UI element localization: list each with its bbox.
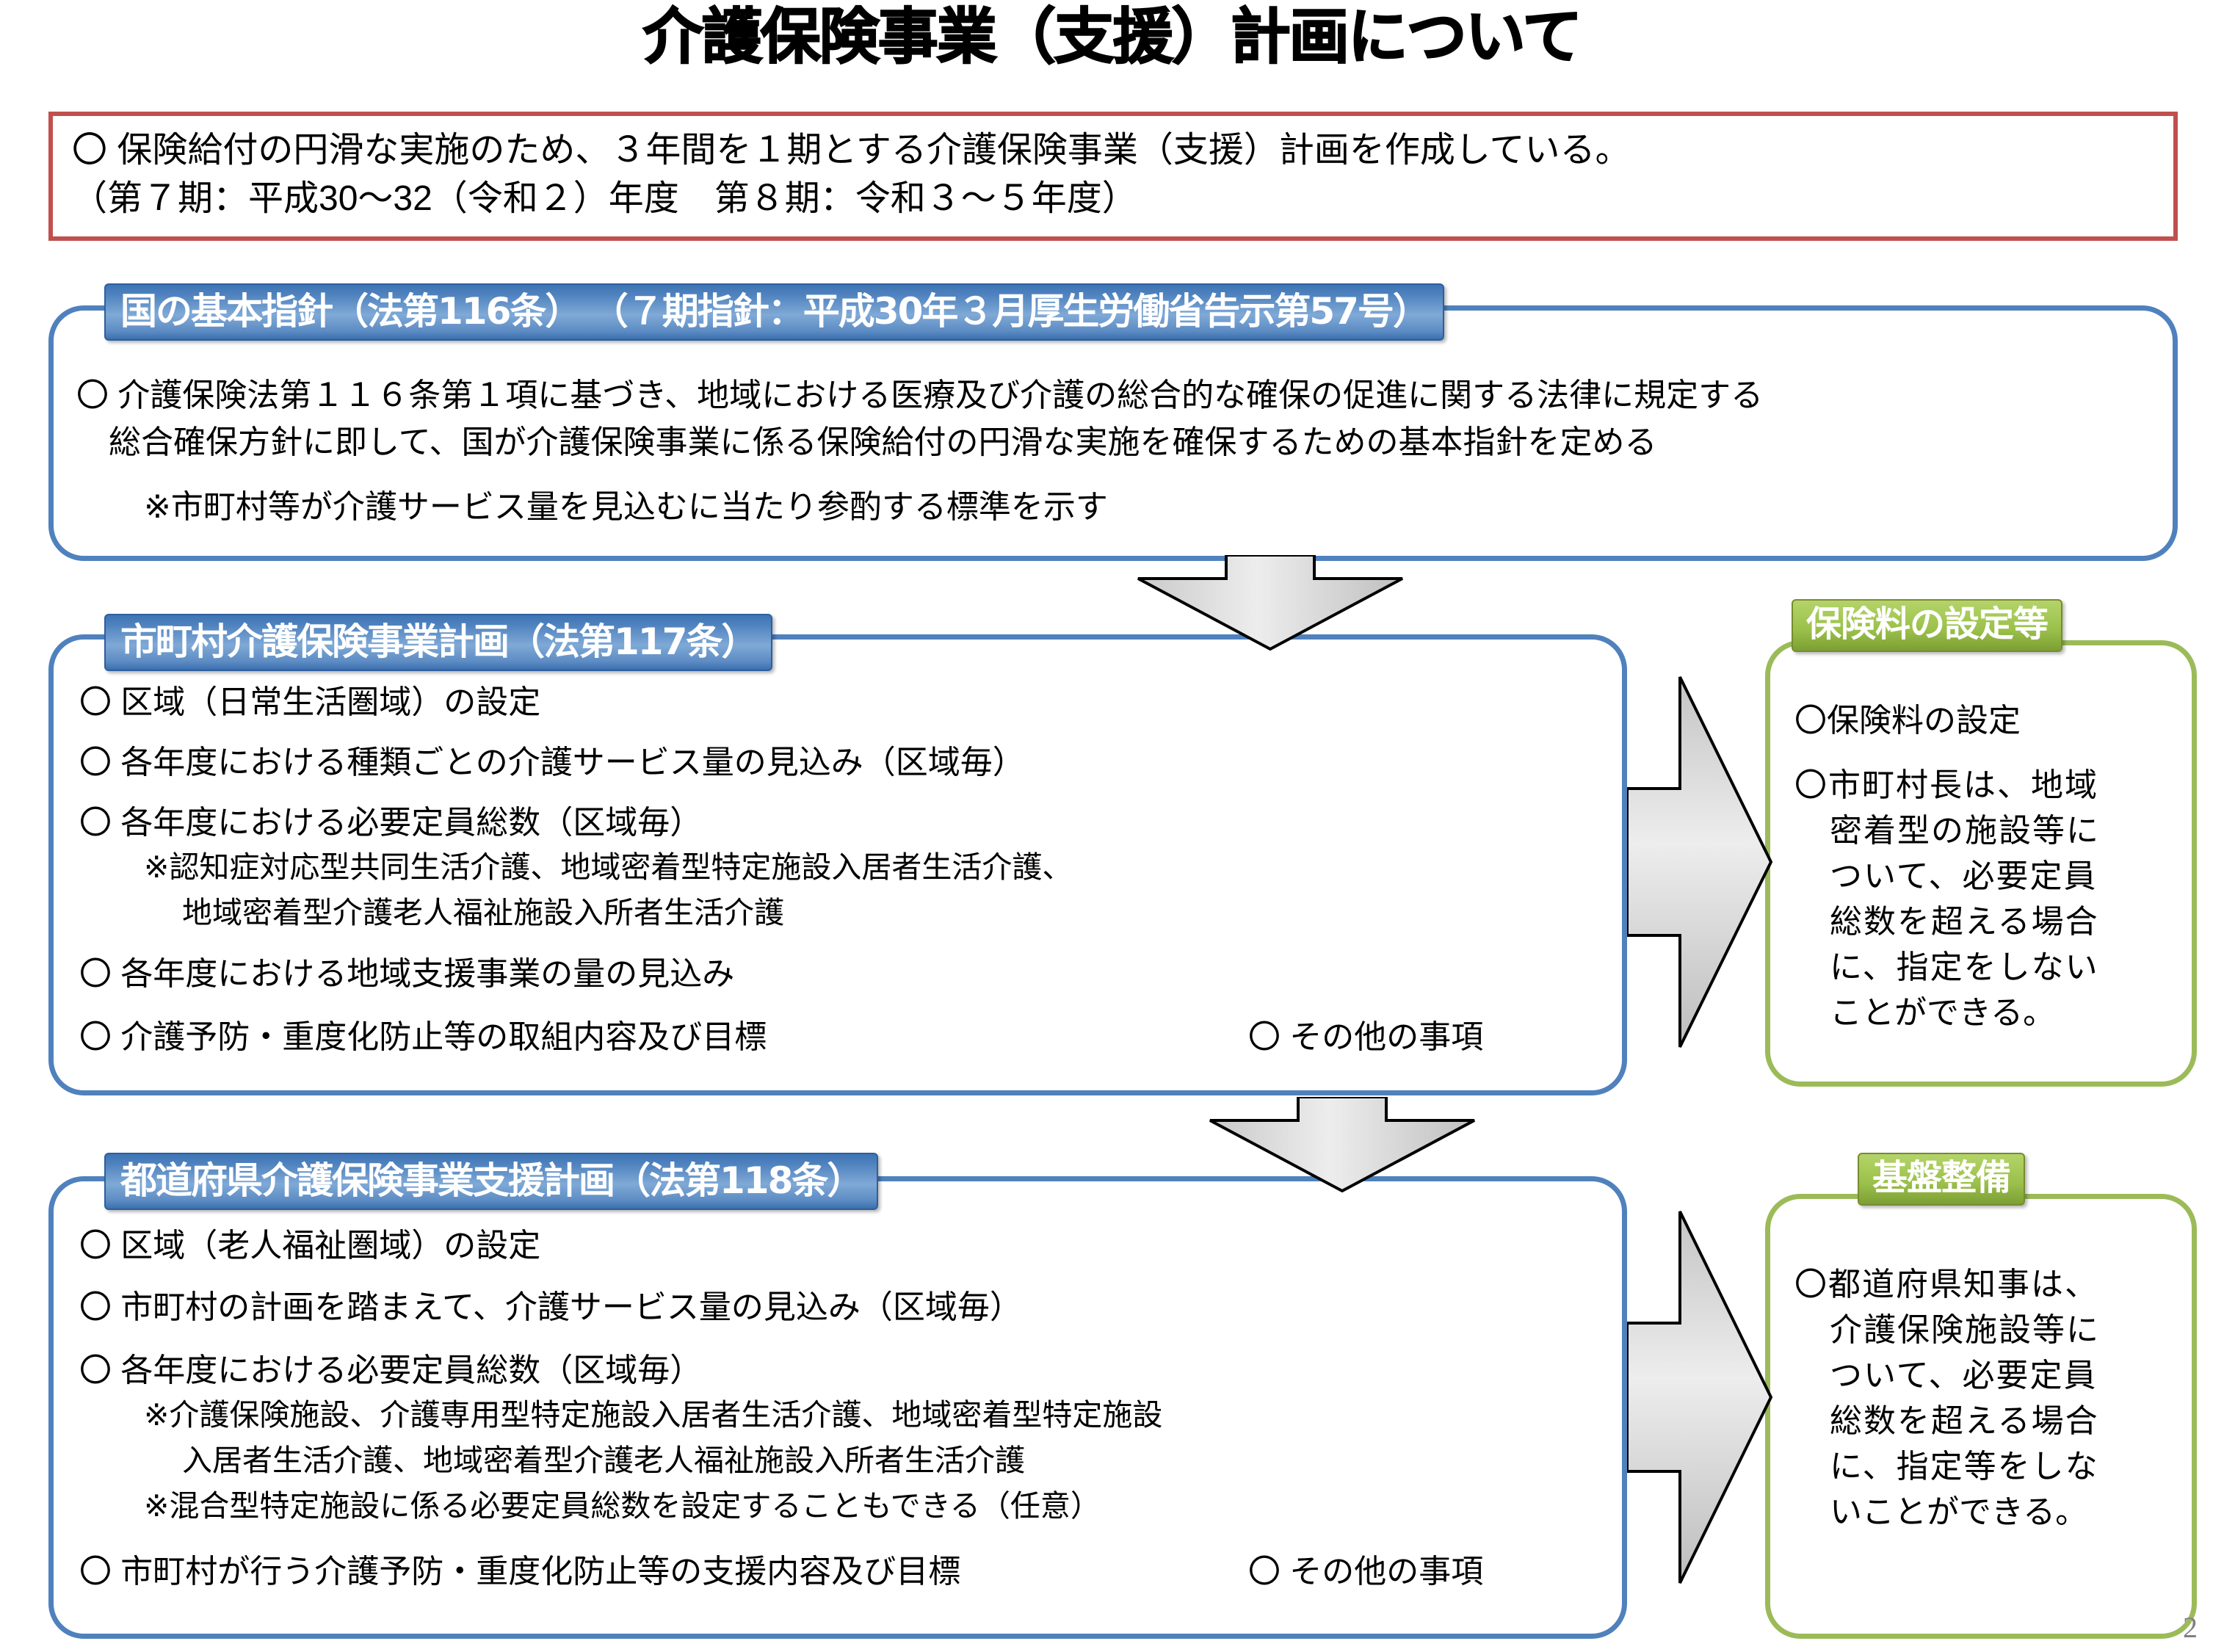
prefectural-note-2: 入居者生活介護、地域密着型介護老人福祉施設入所者生活介護 bbox=[182, 1439, 1025, 1482]
premium-line-4: ついて、必要定員 bbox=[1830, 853, 2097, 900]
infrastructure-line-6: いことができる。 bbox=[1830, 1489, 2087, 1536]
premium-line-5: 総数を超える場合 bbox=[1830, 899, 2099, 946]
municipal-bullet-5: 〇 介護予防・重度化防止等の取組内容及び目標 bbox=[79, 1015, 767, 1060]
page-title: 介護保険事業（支援）計画について bbox=[0, 6, 2224, 69]
national-policy-line-1: 〇 介護保険法第１１６条第１項に基づき、地域における医療及び介護の総合的な確保の… bbox=[76, 373, 1763, 419]
prefectural-note-1: ※介護保険施設、介護専用型特定施設入居者生活介護、地域密着型特定施設 bbox=[144, 1394, 1162, 1436]
municipal-bullet-6: 〇 その他の事項 bbox=[1248, 1015, 1483, 1060]
municipal-bullet-1: 〇 区域（日常生活圏域）の設定 bbox=[79, 680, 540, 725]
municipal-plan-banner: 市町村介護保険事業計画（法第117条） bbox=[104, 614, 772, 671]
arrow-down-national-to-municipal bbox=[1087, 555, 1454, 651]
arrow-down-municipal-to-prefectural bbox=[1159, 1097, 1526, 1192]
prefectural-plan-banner: 都道府県介護保険事業支援計画（法第118条） bbox=[104, 1153, 878, 1210]
prefectural-bullet-5: 〇 その他の事項 bbox=[1248, 1549, 1483, 1595]
prefectural-bullet-1: 〇 区域（老人福祉圏域）の設定 bbox=[79, 1223, 540, 1269]
premium-line-2: 〇市町村長は、地域 bbox=[1794, 762, 2098, 809]
infrastructure-banner: 基盤整備 bbox=[1858, 1153, 2025, 1206]
infrastructure-line-4: 総数を超える場合 bbox=[1830, 1398, 2099, 1445]
infrastructure-line-3: ついて、必要定員 bbox=[1830, 1352, 2097, 1399]
summary-line-1: 〇 保険給付の円滑な実施のため、３年間を１期とする介護保険事業（支援）計画を作成… bbox=[72, 126, 2154, 175]
premium-line-3: 密着型の施設等に bbox=[1830, 808, 2100, 855]
premium-line-1: 〇保険料の設定 bbox=[1794, 698, 2021, 745]
national-policy-banner: 国の基本指針（法第116条） （７期指針：平成30年３月厚生労働省告示第57号） bbox=[104, 283, 1444, 341]
infrastructure-line-5: に、指定等をしな bbox=[1830, 1443, 2099, 1490]
arrow-right-municipal-to-premium bbox=[1627, 649, 1774, 1075]
summary-box: 〇 保険給付の円滑な実施のため、３年間を１期とする介護保険事業（支援）計画を作成… bbox=[48, 112, 2178, 241]
arrow-right-prefectural-to-infrastructure bbox=[1627, 1184, 1774, 1611]
premium-setting-banner: 保険料の設定等 bbox=[1792, 599, 2062, 652]
municipal-note-2: 地域密着型介護老人福祉施設入所者生活介護 bbox=[182, 891, 784, 934]
municipal-bullet-2: 〇 各年度における種類ごとの介護サービス量の見込み（区域毎） bbox=[79, 740, 1025, 786]
page-number: 2 bbox=[2183, 1610, 2198, 1645]
national-policy-note: ※市町村等が介護サービス量を見込むに当たり参酌する標準を示す bbox=[144, 485, 1108, 530]
prefectural-note-3: ※混合型特定施設に係る必要定員総数を設定することもできる（任意） bbox=[144, 1485, 1101, 1527]
municipal-note-1: ※認知症対応型共同生活介護、地域密着型特定施設入居者生活介護、 bbox=[144, 846, 1072, 888]
prefectural-bullet-2: 〇 市町村の計画を踏まえて、介護サービス量の見込み（区域毎） bbox=[79, 1285, 1022, 1330]
national-policy-line-2: 総合確保方針に即して、国が介護保険事業に係る保険給付の円滑な実施を確保するための… bbox=[109, 420, 1656, 465]
infrastructure-line-2: 介護保険施設等に bbox=[1830, 1307, 2100, 1354]
municipal-bullet-4: 〇 各年度における地域支援事業の量の見込み bbox=[79, 952, 734, 997]
infrastructure-line-1: 〇都道府県知事は、 bbox=[1794, 1261, 2098, 1308]
premium-line-6: に、指定をしない bbox=[1830, 944, 2099, 991]
prefectural-bullet-3: 〇 各年度における必要定員総数（区域毎） bbox=[79, 1348, 702, 1394]
municipal-bullet-3: 〇 各年度における必要定員総数（区域毎） bbox=[79, 800, 702, 846]
summary-line-2: （第７期：平成30～32（令和２）年度 第８期：令和３～５年度） bbox=[72, 175, 2154, 223]
premium-line-7: ことができる。 bbox=[1830, 990, 2055, 1037]
prefectural-bullet-4: 〇 市町村が行う介護予防・重度化防止等の支援内容及び目標 bbox=[79, 1549, 960, 1595]
